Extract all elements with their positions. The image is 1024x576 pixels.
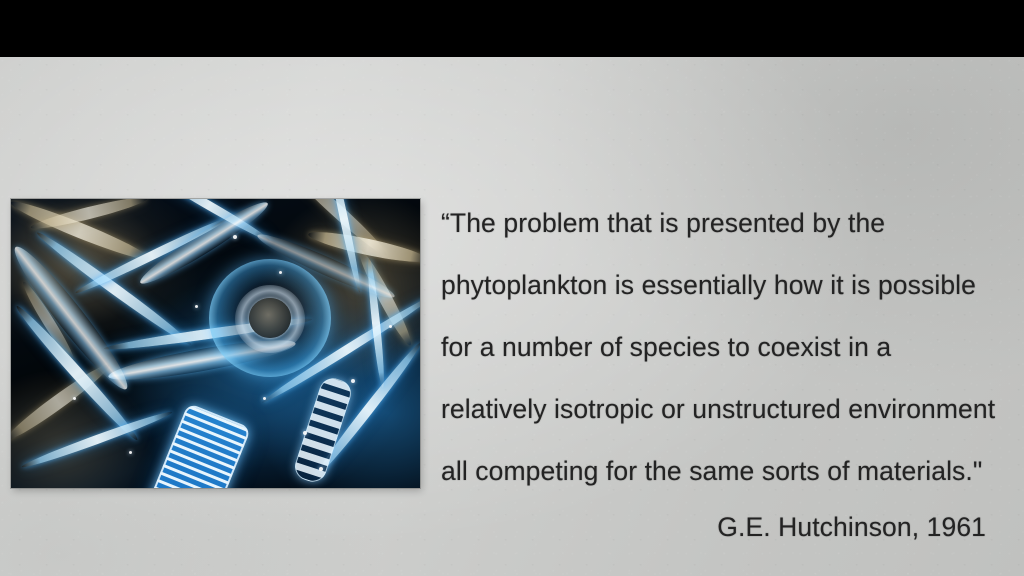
photo-particle xyxy=(129,451,132,454)
quote-line: for a number of species to coexist in a xyxy=(441,316,1007,378)
photo-particle xyxy=(195,305,198,308)
diatom-centric-nucleus xyxy=(249,298,291,338)
photo-particle xyxy=(303,431,307,435)
slide-frame: “The problem that is presented by the ph… xyxy=(0,0,1024,576)
quote-line: phytoplankton is essentially how it is p… xyxy=(441,254,1007,316)
photo-particle xyxy=(263,397,266,400)
quote-attribution: G.E. Hutchinson, 1961 xyxy=(441,512,986,543)
quote-line: all competing for the same sorts of mate… xyxy=(441,440,1007,502)
photo-particle xyxy=(233,235,237,239)
photo-particle xyxy=(279,271,282,274)
photo-particle xyxy=(389,325,392,328)
phytoplankton-photo-canvas xyxy=(11,199,420,488)
photo-particle xyxy=(351,379,355,383)
photo-particle xyxy=(319,467,323,471)
quote-line: relatively isotropic or unstructured env… xyxy=(441,378,1007,440)
letterbox-bar-top xyxy=(0,0,1024,57)
photo-particle xyxy=(73,397,76,400)
phytoplankton-photo xyxy=(11,199,420,488)
quotation-text: “The problem that is presented by the ph… xyxy=(441,192,1007,502)
quote-line: “The problem that is presented by the xyxy=(441,192,1007,254)
presentation-slide: “The problem that is presented by the ph… xyxy=(0,57,1024,576)
